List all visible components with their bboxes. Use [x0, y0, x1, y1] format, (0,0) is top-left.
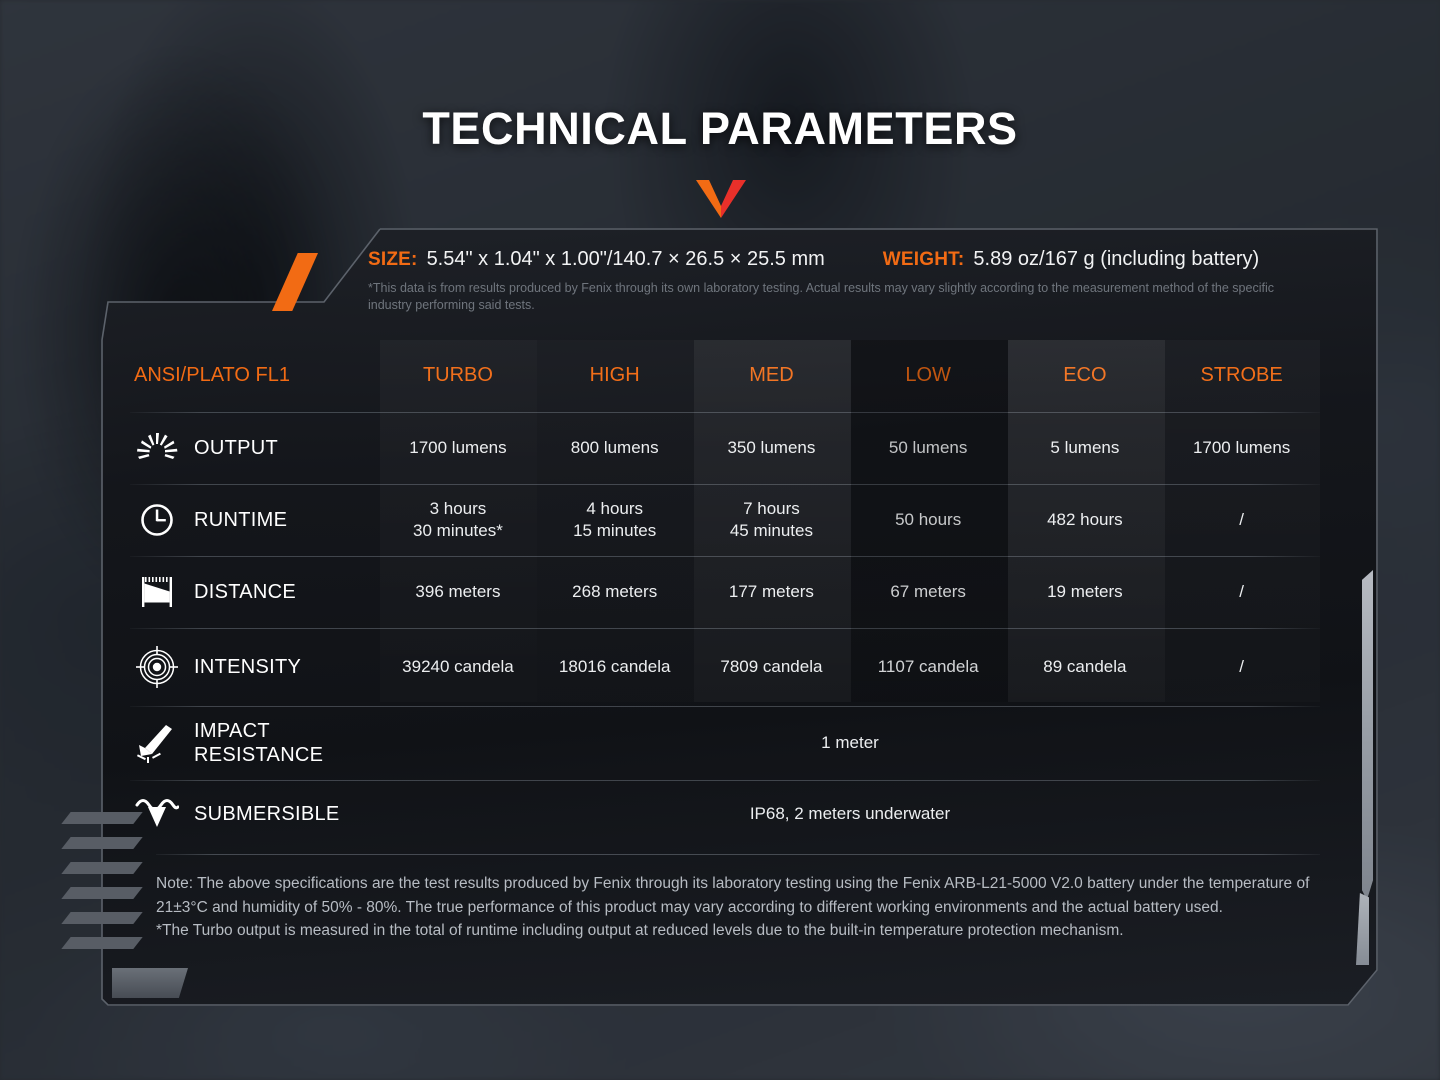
cell-intensity-eco: 89 candela [1007, 628, 1164, 706]
note-footnote: *The Turbo output is measured in the tot… [156, 919, 1320, 943]
cell-intensity-turbo: 39240 candela [380, 628, 537, 706]
right-edge-bar [1362, 570, 1373, 900]
target-icon [134, 647, 180, 687]
cell-runtime-high: 4 hours 15 minutes [536, 484, 693, 556]
table-row-distance: DISTANCE 396 meters 268 meters 177 meter… [130, 556, 1320, 628]
cell-intensity-med: 7809 candela [693, 628, 850, 706]
table-header-row: ANSI/PLATO FL1 TURBO HIGH MED LOW ECO ST… [130, 340, 1320, 412]
table-row-runtime: RUNTIME 3 hours 30 minutes* 4 hours 15 m… [130, 484, 1320, 556]
size-value: 5.54" x 1.04" x 1.00"/140.7 × 26.5 × 25.… [427, 248, 825, 271]
cell-runtime-strobe: / [1163, 484, 1320, 556]
row-label-text: SUBMERSIBLE [194, 802, 340, 826]
cell-runtime-eco: 482 hours [1007, 484, 1164, 556]
cell-output-strobe: 1700 lumens [1163, 412, 1320, 484]
hatch-decoration [72, 812, 130, 972]
impact-icon [134, 723, 180, 763]
cell-distance-turbo: 396 meters [380, 556, 537, 628]
cell-runtime-med: 7 hours 45 minutes [693, 484, 850, 556]
header-label: ANSI/PLATO FL1 [134, 363, 290, 389]
row-label-submersible: SUBMERSIBLE [130, 780, 380, 848]
header-ansi-plato: ANSI/PLATO FL1 [130, 340, 380, 412]
cell-distance-high: 268 meters [536, 556, 693, 628]
ruler-beam-icon [134, 572, 180, 612]
row-label-text: RUNTIME [194, 508, 287, 532]
cell-intensity-strobe: / [1163, 628, 1320, 706]
cell-intensity-high: 18016 candela [536, 628, 693, 706]
weight-value: 5.89 oz/167 g (including battery) [973, 248, 1259, 271]
cell-distance-eco: 19 meters [1007, 556, 1164, 628]
cell-distance-strobe: / [1163, 556, 1320, 628]
clock-icon [134, 500, 180, 540]
header-eco: ECO [1007, 340, 1164, 412]
note-block: Note: The above specifications are the t… [156, 872, 1320, 943]
header-med: MED [693, 340, 850, 412]
weight-label: WEIGHT: [883, 249, 965, 271]
cell-distance-med: 177 meters [693, 556, 850, 628]
table-row-submersible: SUBMERSIBLE IP68, 2 meters underwater [130, 780, 1320, 848]
row-label-runtime: RUNTIME [130, 484, 380, 556]
row-label-text: DISTANCE [194, 580, 296, 604]
cell-output-high: 800 lumens [536, 412, 693, 484]
row-label-intensity: INTENSITY [130, 628, 380, 706]
cell-impact-value: 1 meter [380, 706, 1320, 780]
spec-strip: SIZE: 5.54" x 1.04" x 1.00"/140.7 × 26.5… [368, 248, 1328, 313]
cell-output-med: 350 lumens [693, 412, 850, 484]
row-label-text: INTENSITY [194, 655, 301, 679]
chevron-down-icon [696, 180, 746, 218]
bottom-left-wedge [112, 968, 188, 998]
cell-distance-low: 67 meters [850, 556, 1007, 628]
header-turbo: TURBO [380, 340, 537, 412]
cell-runtime-turbo: 3 hours 30 minutes* [380, 484, 537, 556]
note-text: Note: The above specifications are the t… [156, 875, 1309, 916]
table-row-intensity: INTENSITY 39240 candela 18016 candela 78… [130, 628, 1320, 706]
size-label: SIZE: [368, 249, 418, 271]
row-label-distance: DISTANCE [130, 556, 380, 628]
page-title: TECHNICAL PARAMETERS [0, 103, 1440, 155]
cell-intensity-low: 1107 candela [850, 628, 1007, 706]
technical-parameters-table: ANSI/PLATO FL1 TURBO HIGH MED LOW ECO ST… [130, 340, 1320, 848]
header-low: LOW [850, 340, 1007, 412]
light-burst-icon [134, 428, 180, 468]
table-row-output: OUTPUT 1700 lumens 800 lumens 350 lumens… [130, 412, 1320, 484]
spec-disclaimer: *This data is from results produced by F… [368, 280, 1316, 313]
header-strobe: STROBE [1163, 340, 1320, 412]
note-divider [156, 854, 1320, 855]
row-label-text: IMPACT RESISTANCE [194, 719, 323, 768]
cell-runtime-low: 50 hours [850, 484, 1007, 556]
row-label-output: OUTPUT [130, 412, 380, 484]
cell-output-eco: 5 lumens [1007, 412, 1164, 484]
header-high: HIGH [536, 340, 693, 412]
cell-output-turbo: 1700 lumens [380, 412, 537, 484]
cell-output-low: 50 lumens [850, 412, 1007, 484]
table-row-impact-resistance: IMPACT RESISTANCE 1 meter [130, 706, 1320, 780]
submersible-icon [134, 794, 180, 834]
row-label-text: OUTPUT [194, 436, 278, 460]
cell-submersible-value: IP68, 2 meters underwater [380, 780, 1320, 848]
row-label-impact-resistance: IMPACT RESISTANCE [130, 706, 380, 780]
